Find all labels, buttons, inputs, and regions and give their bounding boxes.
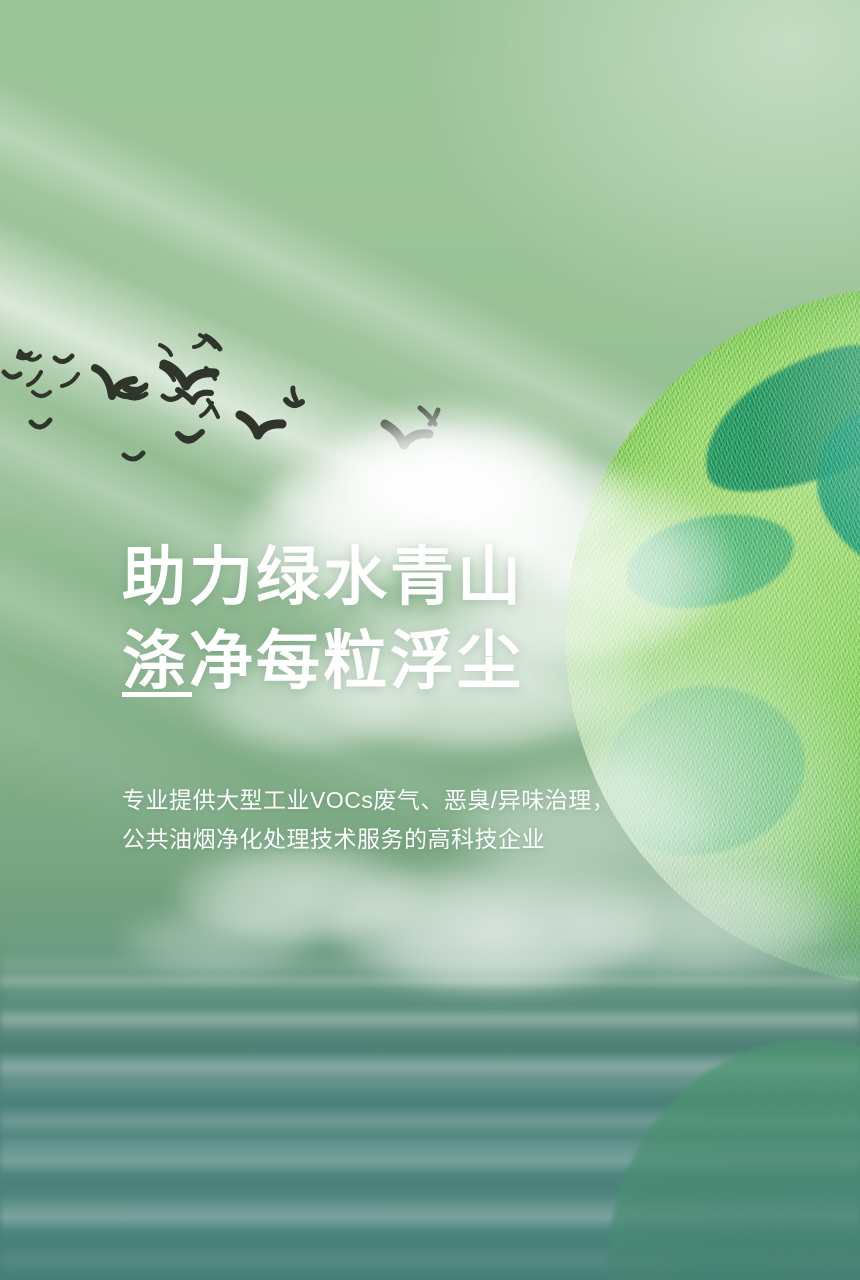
headline-line-1: 助力绿水青山 — [122, 535, 524, 619]
hero-content: 助力绿水青山 涤净每粒浮尘 专业提供大型工业VOCs废气、恶臭/异味治理， 公共… — [122, 0, 722, 1280]
headline-line-2: 涤净每粒浮尘 — [122, 619, 524, 703]
subtitle: 专业提供大型工业VOCs废气、恶臭/异味治理， 公共油烟净化处理技术服务的高科技… — [122, 781, 615, 859]
title-divider — [122, 692, 192, 697]
page-title: 助力绿水青山 涤净每粒浮尘 — [122, 535, 524, 703]
subtitle-line-2: 公共油烟净化处理技术服务的高科技企业 — [122, 820, 615, 859]
hero-banner: 助力绿水青山 涤净每粒浮尘 专业提供大型工业VOCs废气、恶臭/异味治理， 公共… — [0, 0, 860, 1280]
subtitle-line-1: 专业提供大型工业VOCs废气、恶臭/异味治理， — [122, 781, 615, 820]
